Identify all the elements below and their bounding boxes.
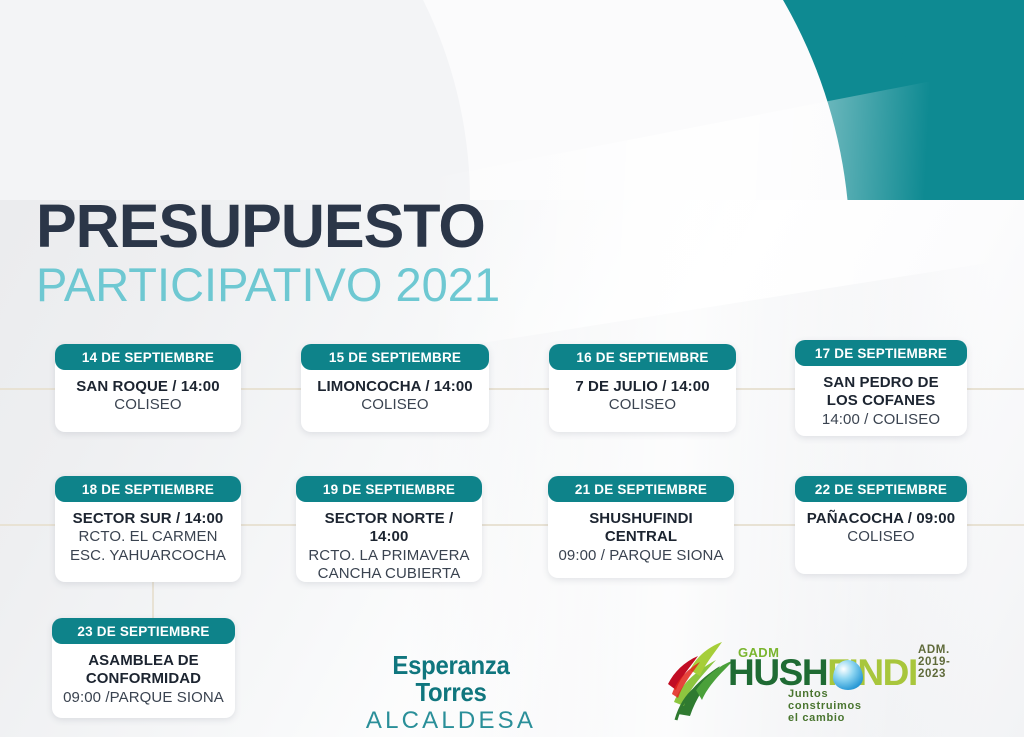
poster-canvas: PRESUPUESTO PARTICIPATIVO 2021 14 DE SEP… xyxy=(0,0,1024,737)
connector-line xyxy=(966,524,1024,526)
connector-line xyxy=(735,388,797,390)
water-drop-icon xyxy=(833,660,863,690)
event-place: SHUSHUFINDI CENTRAL xyxy=(556,510,726,547)
event-venue: COLISEO xyxy=(557,396,728,414)
title-main: PRESUPUESTO xyxy=(36,196,500,257)
gadm-logo: GADM ADM. 2019-2023 HUSHFINDI Juntos con… xyxy=(666,640,966,724)
event-card[interactable]: 21 DE SEPTIEMBRE SHUSHUFINDI CENTRAL 09:… xyxy=(548,476,734,578)
connector-line xyxy=(488,388,550,390)
event-card[interactable]: 18 DE SEPTIEMBRE SECTOR SUR / 14:00 RCTO… xyxy=(55,476,241,582)
logo-city-name: HUSHFINDI xyxy=(728,654,917,691)
event-date-badge: 14 DE SEPTIEMBRE xyxy=(55,344,241,370)
page-title: PRESUPUESTO PARTICIPATIVO 2021 xyxy=(36,196,500,312)
event-date-badge: 21 DE SEPTIEMBRE xyxy=(548,476,734,502)
event-venue: COLISEO xyxy=(803,528,959,546)
title-subtitle: PARTICIPATIVO 2021 xyxy=(36,257,500,312)
logo-tagline: Juntos construimos el cambio xyxy=(788,688,862,724)
event-date-badge: 15 DE SEPTIEMBRE xyxy=(301,344,489,370)
signature-block: Esperanza Torres ALCALDESA xyxy=(361,652,541,735)
event-place: PAÑACOCHA / 09:00 xyxy=(803,510,959,528)
event-card[interactable]: 16 DE SEPTIEMBRE 7 DE JULIO / 14:00 COLI… xyxy=(549,344,736,432)
event-place: SECTOR SUR / 14:00 xyxy=(63,510,233,528)
event-place: 7 DE JULIO / 14:00 xyxy=(557,378,728,396)
event-date-badge: 16 DE SEPTIEMBRE xyxy=(549,344,736,370)
connector-line xyxy=(730,524,796,526)
event-place: SECTOR NORTE / 14:00 xyxy=(304,510,474,547)
speaker-mayor xyxy=(765,12,835,140)
connector-line xyxy=(478,524,550,526)
event-venue: 09:00 / PARQUE SIONA xyxy=(556,547,726,565)
event-date-badge: 22 DE SEPTIEMBRE xyxy=(795,476,967,502)
audience-head-4 xyxy=(960,132,1000,162)
mayor-role: ALCALDESA xyxy=(361,707,541,736)
connector-line xyxy=(240,524,302,526)
wall-picture-frame xyxy=(58,14,100,40)
meeting-photograph xyxy=(0,0,1024,200)
event-card[interactable]: 14 DE SEPTIEMBRE SAN ROQUE / 14:00 COLIS… xyxy=(55,344,241,432)
logo-city-name-part1: HUSH xyxy=(728,652,827,693)
logo-admin-period: ADM. 2019-2023 xyxy=(918,644,950,680)
connector-line xyxy=(966,388,1024,390)
event-date-badge: 17 DE SEPTIEMBRE xyxy=(795,340,967,366)
event-venue: 09:00 /PARQUE SIONA xyxy=(60,689,227,707)
event-place: ASAMBLEA DE CONFORMIDAD xyxy=(60,652,227,689)
event-place: SAN PEDRO DE LOS COFANES xyxy=(803,374,959,411)
event-date-badge: 18 DE SEPTIEMBRE xyxy=(55,476,241,502)
header-photo xyxy=(0,0,1024,200)
connector-line xyxy=(240,388,302,390)
event-venue: RCTO. LA PRIMAVERA CANCHA CUBIERTA xyxy=(304,547,474,584)
mayor-name: Esperanza Torres xyxy=(368,652,534,707)
event-place: LIMONCOCHA / 14:00 xyxy=(309,378,481,396)
event-place: SAN ROQUE / 14:00 xyxy=(63,378,233,396)
connector-line xyxy=(0,388,56,390)
event-card[interactable]: 17 DE SEPTIEMBRE SAN PEDRO DE LOS COFANE… xyxy=(795,340,967,436)
event-venue: COLISEO xyxy=(63,396,233,414)
event-card[interactable]: 22 DE SEPTIEMBRE PAÑACOCHA / 09:00 COLIS… xyxy=(795,476,967,574)
event-venue: 14:00 / COLISEO xyxy=(803,411,959,429)
event-date-badge: 23 DE SEPTIEMBRE xyxy=(52,618,235,644)
event-venue: COLISEO xyxy=(309,396,481,414)
event-venue: RCTO. EL CARMEN ESC. YAHUARCOCHA xyxy=(63,528,233,565)
event-card[interactable]: 23 DE SEPTIEMBRE ASAMBLEA DE CONFORMIDAD… xyxy=(52,618,235,718)
event-date-badge: 19 DE SEPTIEMBRE xyxy=(296,476,482,502)
event-card[interactable]: 19 DE SEPTIEMBRE SECTOR NORTE / 14:00 RC… xyxy=(296,476,482,582)
event-card[interactable]: 15 DE SEPTIEMBRE LIMONCOCHA / 14:00 COLI… xyxy=(301,344,489,432)
connector-line xyxy=(0,524,56,526)
